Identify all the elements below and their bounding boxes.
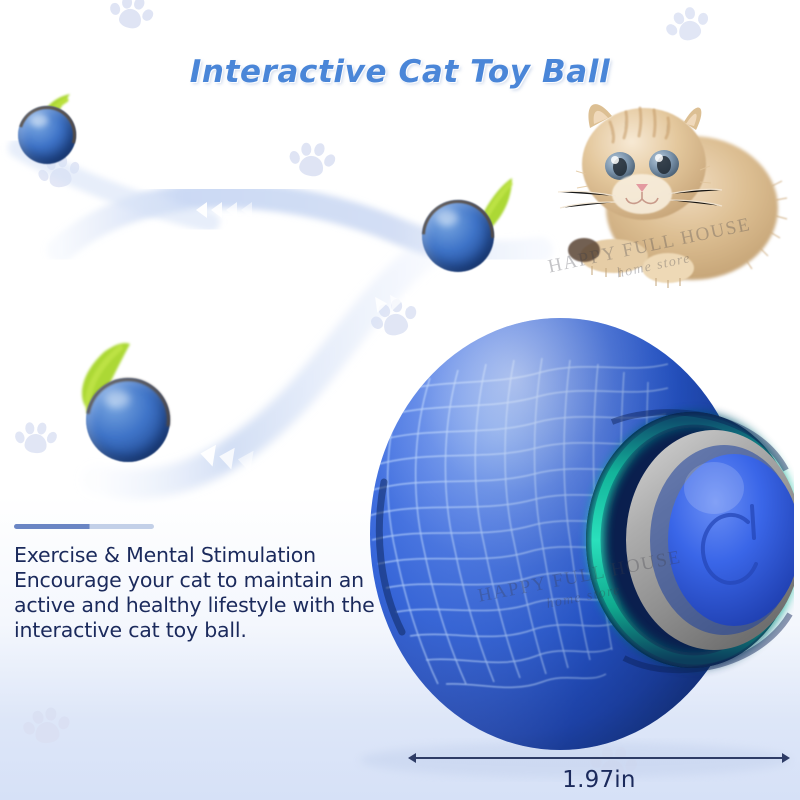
- chevron-left-icon: [196, 202, 207, 218]
- paw-print-decoration: [284, 136, 339, 190]
- feature-line: Encourage your cat to maintain an: [14, 568, 374, 593]
- paw-print-decoration: [20, 704, 75, 757]
- small-ball-highlight: [436, 210, 458, 226]
- chevron-left-icon: [226, 202, 237, 218]
- chevron-left-icon: [255, 451, 272, 475]
- product-marketing-image: Interactive Cat Toy Ball: [0, 0, 800, 800]
- chevron-left-icon: [236, 449, 253, 473]
- feature-line: interactive cat toy ball.: [14, 618, 374, 643]
- feature-heading: Exercise & Mental Stimulation: [14, 543, 374, 567]
- dimension-label: 1.97in: [408, 767, 790, 793]
- chevron-group-upper: [196, 202, 252, 218]
- dimension-indicator: 1.97in: [408, 752, 790, 793]
- feature-line: active and healthy lifestyle with the: [14, 593, 374, 618]
- chevron-left-icon: [211, 202, 222, 218]
- dimension-bar: [413, 757, 785, 759]
- small-ball-highlight: [30, 114, 48, 127]
- arrow-right-icon: [782, 753, 790, 763]
- chevron-left-icon: [241, 202, 252, 218]
- small-ball-1: [4, 78, 114, 168]
- small-ball-highlight: [104, 390, 130, 408]
- kitten-photo: [540, 78, 790, 296]
- small-ball-3: [46, 330, 196, 470]
- feature-block: Exercise & Mental Stimulation Encourage …: [14, 524, 374, 643]
- small-ball-2: [408, 168, 538, 278]
- chevron-left-icon: [217, 446, 234, 470]
- dimension-arrow-line: [408, 752, 790, 764]
- chevron-left-icon: [199, 443, 216, 467]
- feature-divider-rule: [14, 524, 154, 529]
- paw-print-decoration: [661, 1, 717, 56]
- paw-print-decoration: [103, 0, 158, 43]
- chevron-group-lower: [199, 443, 273, 476]
- main-product-ball: [362, 302, 794, 760]
